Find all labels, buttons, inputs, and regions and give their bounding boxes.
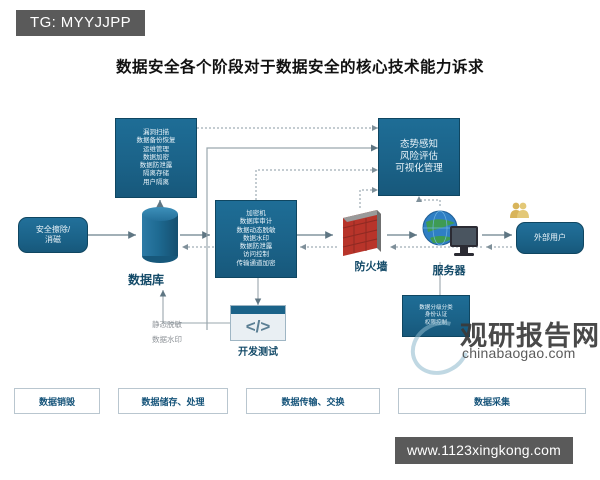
capability-line-3: 数据加密 (143, 154, 169, 162)
dev-test-caption: 开发测试 (218, 343, 298, 358)
capability-line-2: 运维管理 (143, 146, 169, 154)
node-transmission-capabilities[interactable]: 加密机 数据库审计 数据动态脱敏 数据水印 数据防泄露 访问控制 传输通道加密 (215, 200, 297, 278)
stage-box-collection[interactable]: 数据采集 (398, 388, 586, 414)
stage-box-destroy[interactable]: 数据销毁 (14, 388, 100, 414)
crypto-line-1: 数据库审计 (240, 218, 273, 226)
capability-line-1: 数据备份恢复 (137, 137, 176, 145)
url-badge: www.1123xingkong.com (395, 437, 573, 464)
classify-line-2: 权限控制 (425, 320, 447, 327)
crypto-line-3: 数据水印 (243, 235, 269, 243)
node-situation-awareness[interactable]: 态势感知 风险评估 可视化管理 (378, 118, 460, 196)
capability-line-0: 漏洞扫描 (143, 129, 169, 137)
firewall-icon[interactable] (337, 208, 385, 260)
capability-line-5: 隔离存储 (143, 170, 169, 178)
firewall-caption: 防火墙 (336, 258, 406, 274)
crypto-line-0: 加密机 (246, 210, 266, 218)
dev-test-titlebar (231, 306, 285, 314)
code-icon: </> (246, 312, 271, 335)
situation-line-2: 可视化管理 (395, 163, 443, 175)
capability-line-6: 用户隔离 (143, 179, 169, 187)
situation-line-1: 风险评估 (400, 151, 438, 163)
label-static-masking: 静态脱敏 (152, 319, 182, 330)
situation-line-0: 态势感知 (400, 139, 438, 151)
users-icon (508, 200, 532, 220)
server-icon[interactable] (420, 206, 482, 262)
page-title: 数据安全各个阶段对于数据安全的核心技术能力诉求 (0, 55, 600, 77)
database-icon[interactable] (142, 207, 178, 263)
stage-box-transmission[interactable]: 数据传输、交换 (246, 388, 380, 414)
database-top (142, 207, 178, 221)
crypto-line-2: 数据动态脱敏 (237, 227, 276, 235)
node-collection-capabilities[interactable]: 数据分级分类 身份认证 权限控制 (402, 295, 470, 337)
node-secure-erase[interactable]: 安全擦除/ 消磁 (18, 217, 88, 253)
label-data-watermark: 数据水印 (152, 334, 182, 345)
dev-test-icon[interactable]: </> (230, 305, 286, 341)
secure-erase-line-0: 安全擦除/ (36, 225, 70, 235)
secure-erase-line-1: 消磁 (45, 235, 61, 245)
node-storage-capabilities[interactable]: 漏洞扫描 数据备份恢复 运维管理 数据加密 数据防泄露 隔离存储 用户隔离 (115, 118, 197, 198)
crypto-line-6: 传输通道加密 (237, 260, 276, 268)
telegram-badge: TG: MYYJJPP (16, 10, 145, 36)
crypto-line-5: 访问控制 (243, 251, 269, 259)
external-user-label: 外部用户 (534, 233, 566, 243)
node-external-user[interactable]: 外部用户 (516, 222, 584, 254)
server-caption: 服务器 (412, 262, 486, 278)
classify-line-1: 身份认证 (425, 312, 447, 319)
stage-box-storage[interactable]: 数据储存、处理 (118, 388, 228, 414)
database-caption: 数据库 (106, 271, 186, 288)
